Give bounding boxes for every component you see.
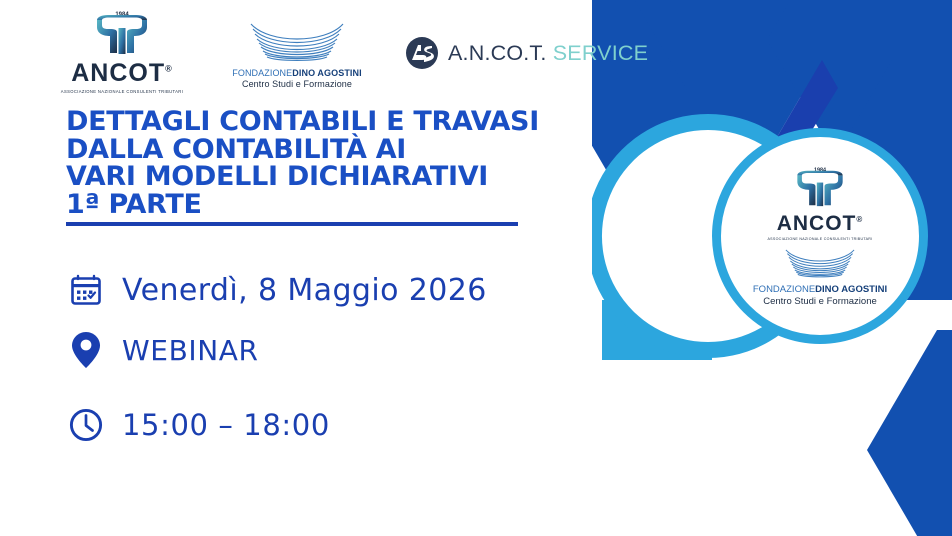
event-time-value: 15:00 – 18:00 bbox=[122, 408, 330, 442]
badge-fondazione-logo: FONDAZIONEDINO AGOSTINI Centro Studi e F… bbox=[753, 248, 887, 307]
title-line-3: VARI MODELLI DICHIARATIVI bbox=[66, 163, 626, 191]
fondazione-subtitle: Centro Studi e Formazione bbox=[232, 79, 362, 90]
as-monogram-icon bbox=[405, 36, 439, 70]
ancot-logo: 1984 ANCOT® ASSOCIAZIONE NAZIONALE CONSU… bbox=[62, 8, 182, 94]
registered-mark: ® bbox=[165, 64, 173, 74]
badge-ancot-wordmark: ANCOT® bbox=[777, 213, 864, 234]
fondazione-symbol-icon bbox=[243, 22, 351, 64]
hexagon-shape bbox=[602, 300, 712, 360]
hexagon-shape bbox=[937, 450, 952, 536]
map-pin-icon bbox=[66, 330, 106, 370]
hexagon-shape bbox=[820, 0, 836, 118]
badge-fondazione-subtitle: Centro Studi e Formazione bbox=[753, 296, 887, 307]
event-poster: 1984 ANCOT® ASSOCIAZIONE NAZIONALE CONSU… bbox=[0, 0, 952, 536]
event-title: DETTAGLI CONTABILI E TRAVASI DALLA CONTA… bbox=[66, 108, 626, 226]
title-line-4: 1ª PARTE bbox=[66, 191, 626, 219]
badge-fondazione-symbol-icon bbox=[780, 248, 860, 280]
badge-ancot-symbol-icon: 1984 bbox=[791, 164, 849, 212]
event-date-row: Venerdì, 8 Maggio 2026 bbox=[66, 270, 487, 310]
ancot-tagline: ASSOCIAZIONE NAZIONALE CONSULENTI TRIBUT… bbox=[61, 89, 183, 94]
badge-fondazione-name: FONDAZIONEDINO AGOSTINI bbox=[753, 285, 887, 296]
title-line-2: DALLA CONTABILITÀ AI bbox=[66, 136, 626, 164]
hexagon-shape bbox=[867, 330, 952, 536]
badge-registered-mark: ® bbox=[856, 215, 863, 224]
title-line-1: DETTAGLI CONTABILI E TRAVASI bbox=[66, 108, 626, 136]
badge-ancot-tagline: ASSOCIAZIONE NAZIONALE CONSULENTI TRIBUT… bbox=[767, 237, 872, 241]
ancot-wordmark: ANCOT® bbox=[62, 61, 182, 86]
event-location-value: WEBINAR bbox=[122, 334, 259, 367]
clock-icon bbox=[66, 405, 106, 445]
circular-logo-badge: 1984 ANCOT® ASSOCIAZIONE NAZIONALE CONSU… bbox=[712, 128, 928, 344]
calendar-icon bbox=[66, 270, 106, 310]
title-underline bbox=[66, 222, 518, 226]
event-date-value: Venerdì, 8 Maggio 2026 bbox=[122, 273, 487, 308]
logo-row: 1984 ANCOT® ASSOCIAZIONE NAZIONALE CONSU… bbox=[0, 0, 620, 100]
ancot-service-logo: A.N.CO.T. SERVICE bbox=[405, 36, 648, 70]
event-time-row: 15:00 – 18:00 bbox=[66, 405, 330, 445]
ancot-service-wordmark: A.N.CO.T. SERVICE bbox=[448, 41, 648, 66]
fondazione-name: FONDAZIONEDINO AGOSTINI bbox=[232, 69, 362, 79]
fondazione-logo: FONDAZIONEDINO AGOSTINI Centro Studi e F… bbox=[232, 22, 362, 90]
ancot-symbol-icon: 1984 bbox=[90, 8, 154, 60]
event-location-row: WEBINAR bbox=[66, 330, 259, 370]
hexagon-shape bbox=[617, 0, 897, 90]
